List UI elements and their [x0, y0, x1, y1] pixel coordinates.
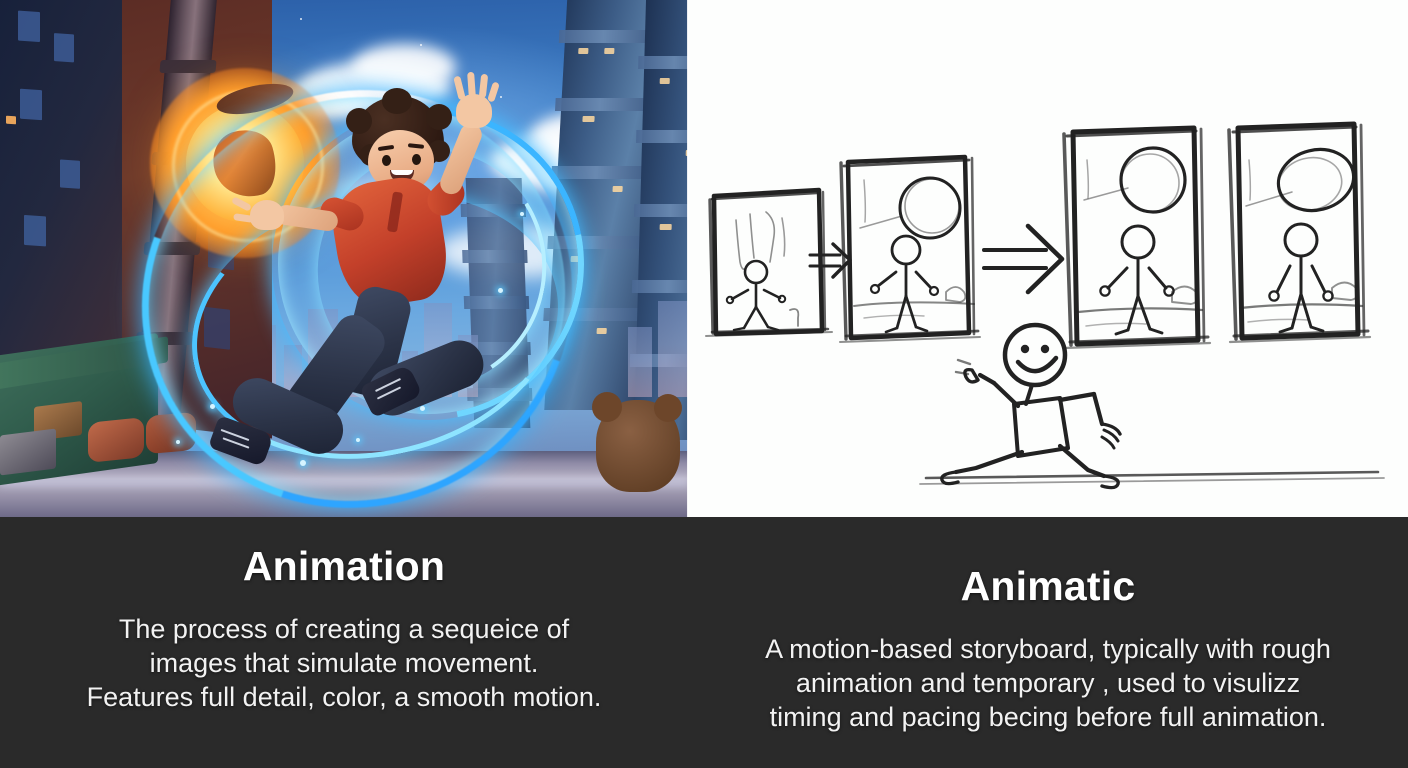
star: [300, 18, 302, 20]
animation-description-line: images that simulate movement.: [0, 646, 688, 680]
teeth: [391, 170, 413, 175]
animation-image: [0, 0, 688, 517]
animatic-description-line: timing and pacing becing before full ani…: [688, 700, 1408, 734]
animation-description: The process of creating a sequeice of im…: [0, 590, 688, 714]
animation-description-line: Features full detail, color, a smooth mo…: [0, 680, 688, 714]
animatic-description: A motion-based storyboard, typically wit…: [688, 610, 1408, 734]
sparkle: [176, 440, 180, 444]
animatic-heading: Animatic: [688, 517, 1408, 610]
animated-boy-character: [286, 74, 546, 474]
animatic-description-line: A motion-based storyboard, typically wit…: [688, 632, 1408, 666]
caption-row: Animation The process of creating a sequ…: [0, 517, 1408, 768]
teddy-ear: [654, 394, 682, 422]
animatic-description-line: animation and temporary , used to visuli…: [688, 666, 1408, 700]
animation-description-line: The process of creating a sequeice of: [0, 612, 688, 646]
animation-caption: Animation The process of creating a sequ…: [0, 517, 688, 768]
reaching-hand: [250, 200, 284, 230]
comparison-slide: Animation The process of creating a sequ…: [0, 0, 1408, 768]
sparkle: [210, 404, 215, 409]
crate: [0, 429, 56, 476]
animation-heading: Animation: [0, 517, 688, 590]
teddy-ear: [592, 392, 622, 422]
panel-divider: [687, 0, 689, 517]
animatic-image: [688, 0, 1408, 517]
crate: [88, 417, 144, 463]
animatic-caption: Animatic A motion-based storyboard, typi…: [688, 517, 1408, 768]
media-row: [0, 0, 1408, 517]
storyboard-sketch: [688, 0, 1408, 517]
